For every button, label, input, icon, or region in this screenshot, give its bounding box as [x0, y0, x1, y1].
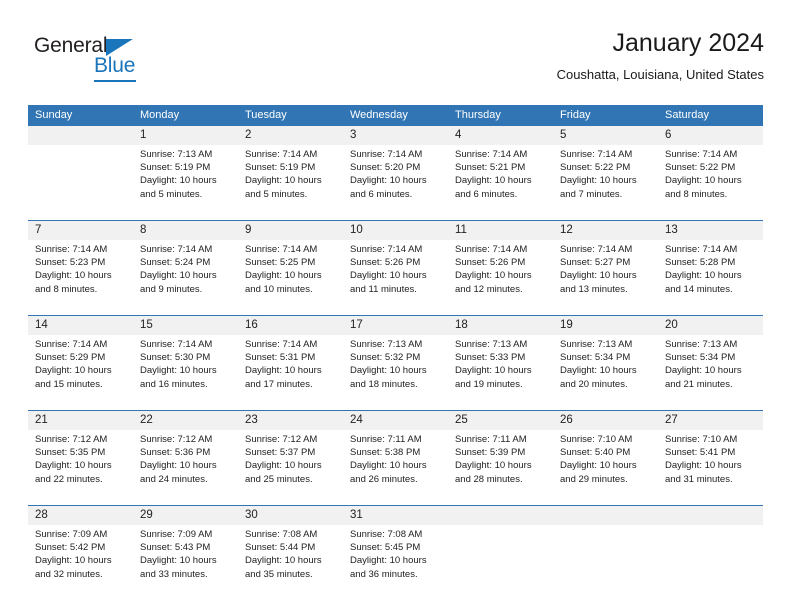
- sunrise-text: Sunrise: 7:12 AM: [245, 433, 338, 446]
- daylight-text-line1: Daylight: 10 hours: [560, 174, 653, 187]
- day-cell[interactable]: [658, 525, 763, 600]
- daylight-text-line1: Daylight: 10 hours: [560, 364, 653, 377]
- day-number[interactable]: 20: [658, 316, 763, 336]
- logo-text-blue: Blue: [94, 54, 135, 78]
- sunrise-text: Sunrise: 7:12 AM: [35, 433, 128, 446]
- sunrise-text: Sunrise: 7:14 AM: [350, 148, 443, 161]
- daylight-text-line2: and 7 minutes.: [560, 188, 653, 201]
- week-info-row: Sunrise: 7:14 AM Sunset: 5:29 PM Dayligh…: [28, 335, 763, 411]
- sunrise-text: Sunrise: 7:10 AM: [665, 433, 758, 446]
- daylight-text-line1: Daylight: 10 hours: [455, 459, 548, 472]
- sunset-text: Sunset: 5:39 PM: [455, 446, 548, 459]
- sunrise-text: Sunrise: 7:14 AM: [455, 148, 548, 161]
- day-number[interactable]: 29: [133, 506, 238, 526]
- day-cell[interactable]: Sunrise: 7:14 AM Sunset: 5:20 PM Dayligh…: [343, 145, 448, 221]
- daylight-text-line2: and 33 minutes.: [140, 568, 233, 581]
- day-cell[interactable]: Sunrise: 7:14 AM Sunset: 5:25 PM Dayligh…: [238, 240, 343, 316]
- day-number[interactable]: 21: [28, 411, 133, 431]
- daylight-text-line2: and 24 minutes.: [140, 473, 233, 486]
- daylight-text-line1: Daylight: 10 hours: [35, 459, 128, 472]
- day-number[interactable]: 27: [658, 411, 763, 431]
- daylight-text-line1: Daylight: 10 hours: [560, 269, 653, 282]
- daylight-text-line1: Daylight: 10 hours: [35, 364, 128, 377]
- sunset-text: Sunset: 5:40 PM: [560, 446, 653, 459]
- day-number[interactable]: 13: [658, 221, 763, 241]
- daylight-text-line2: and 35 minutes.: [245, 568, 338, 581]
- week-daynum-row: 7 8 9 10 11 12 13: [28, 221, 763, 241]
- daylight-text-line1: Daylight: 10 hours: [665, 174, 758, 187]
- day-cell[interactable]: Sunrise: 7:09 AM Sunset: 5:42 PM Dayligh…: [28, 525, 133, 600]
- weekday-header-wednesday: Wednesday: [343, 105, 448, 126]
- daylight-text-line2: and 8 minutes.: [665, 188, 758, 201]
- day-number[interactable]: 1: [133, 126, 238, 145]
- sunrise-text: Sunrise: 7:14 AM: [455, 243, 548, 256]
- daylight-text-line1: Daylight: 10 hours: [560, 459, 653, 472]
- daylight-text-line2: and 16 minutes.: [140, 378, 233, 391]
- day-number[interactable]: [553, 506, 658, 526]
- sunrise-text: Sunrise: 7:10 AM: [560, 433, 653, 446]
- sunset-text: Sunset: 5:24 PM: [140, 256, 233, 269]
- day-number[interactable]: 9: [238, 221, 343, 241]
- daylight-text-line1: Daylight: 10 hours: [140, 554, 233, 567]
- daylight-text-line2: and 6 minutes.: [455, 188, 548, 201]
- day-number[interactable]: 23: [238, 411, 343, 431]
- daylight-text-line2: and 20 minutes.: [560, 378, 653, 391]
- daylight-text-line1: Daylight: 10 hours: [350, 554, 443, 567]
- daylight-text-line1: Daylight: 10 hours: [455, 269, 548, 282]
- daylight-text-line2: and 22 minutes.: [35, 473, 128, 486]
- day-cell[interactable]: Sunrise: 7:12 AM Sunset: 5:37 PM Dayligh…: [238, 430, 343, 506]
- sunset-text: Sunset: 5:30 PM: [140, 351, 233, 364]
- day-number[interactable]: 11: [448, 221, 553, 241]
- daylight-text-line1: Daylight: 10 hours: [245, 269, 338, 282]
- day-number[interactable]: 14: [28, 316, 133, 336]
- day-number[interactable]: 8: [133, 221, 238, 241]
- week-info-row: Sunrise: 7:09 AM Sunset: 5:42 PM Dayligh…: [28, 525, 763, 600]
- sunrise-text: Sunrise: 7:11 AM: [350, 433, 443, 446]
- sunset-text: Sunset: 5:19 PM: [140, 161, 233, 174]
- weekday-header-friday: Friday: [553, 105, 658, 126]
- day-cell[interactable]: Sunrise: 7:13 AM Sunset: 5:19 PM Dayligh…: [133, 145, 238, 221]
- day-cell[interactable]: [448, 525, 553, 600]
- day-cell[interactable]: Sunrise: 7:13 AM Sunset: 5:33 PM Dayligh…: [448, 335, 553, 411]
- sunset-text: Sunset: 5:23 PM: [35, 256, 128, 269]
- day-cell[interactable]: Sunrise: 7:14 AM Sunset: 5:26 PM Dayligh…: [448, 240, 553, 316]
- sunrise-text: Sunrise: 7:13 AM: [560, 338, 653, 351]
- day-cell[interactable]: Sunrise: 7:11 AM Sunset: 5:38 PM Dayligh…: [343, 430, 448, 506]
- day-cell[interactable]: Sunrise: 7:14 AM Sunset: 5:31 PM Dayligh…: [238, 335, 343, 411]
- day-cell[interactable]: Sunrise: 7:13 AM Sunset: 5:34 PM Dayligh…: [658, 335, 763, 411]
- day-cell[interactable]: Sunrise: 7:13 AM Sunset: 5:32 PM Dayligh…: [343, 335, 448, 411]
- sunrise-text: Sunrise: 7:09 AM: [140, 528, 233, 541]
- week-daynum-row: 1 2 3 4 5 6: [28, 126, 763, 145]
- sunset-text: Sunset: 5:27 PM: [560, 256, 653, 269]
- daylight-text-line1: Daylight: 10 hours: [245, 174, 338, 187]
- day-number[interactable]: 15: [133, 316, 238, 336]
- general-blue-logo: General Blue: [34, 34, 164, 86]
- sunrise-text: Sunrise: 7:14 AM: [665, 243, 758, 256]
- day-cell[interactable]: Sunrise: 7:10 AM Sunset: 5:40 PM Dayligh…: [553, 430, 658, 506]
- sunrise-text: Sunrise: 7:14 AM: [560, 148, 653, 161]
- daylight-text-line1: Daylight: 10 hours: [245, 554, 338, 567]
- day-cell[interactable]: Sunrise: 7:11 AM Sunset: 5:39 PM Dayligh…: [448, 430, 553, 506]
- sunset-text: Sunset: 5:26 PM: [455, 256, 548, 269]
- day-number[interactable]: 6: [658, 126, 763, 145]
- sunset-text: Sunset: 5:41 PM: [665, 446, 758, 459]
- sunset-text: Sunset: 5:34 PM: [665, 351, 758, 364]
- daylight-text-line2: and 8 minutes.: [35, 283, 128, 296]
- page-title: January 2024: [557, 28, 764, 58]
- day-cell[interactable]: [28, 145, 133, 221]
- sunset-text: Sunset: 5:35 PM: [35, 446, 128, 459]
- calendar-table: Sunday Monday Tuesday Wednesday Thursday…: [28, 105, 763, 600]
- day-cell[interactable]: Sunrise: 7:14 AM Sunset: 5:29 PM Dayligh…: [28, 335, 133, 411]
- day-number[interactable]: 17: [343, 316, 448, 336]
- daylight-text-line2: and 13 minutes.: [560, 283, 653, 296]
- day-number[interactable]: 19: [553, 316, 658, 336]
- daylight-text-line1: Daylight: 10 hours: [140, 269, 233, 282]
- sunset-text: Sunset: 5:22 PM: [665, 161, 758, 174]
- sunrise-text: Sunrise: 7:13 AM: [455, 338, 548, 351]
- sunset-text: Sunset: 5:34 PM: [560, 351, 653, 364]
- day-number[interactable]: 10: [343, 221, 448, 241]
- sunset-text: Sunset: 5:33 PM: [455, 351, 548, 364]
- daylight-text-line2: and 10 minutes.: [245, 283, 338, 296]
- day-number[interactable]: 24: [343, 411, 448, 431]
- day-number[interactable]: 12: [553, 221, 658, 241]
- title-block: January 2024 Coushatta, Louisiana, Unite…: [557, 28, 764, 82]
- sunrise-text: Sunrise: 7:14 AM: [245, 148, 338, 161]
- daylight-text-line1: Daylight: 10 hours: [245, 364, 338, 377]
- logo-underline: [94, 80, 136, 82]
- day-number[interactable]: 28: [28, 506, 133, 526]
- daylight-text-line1: Daylight: 10 hours: [245, 459, 338, 472]
- sunset-text: Sunset: 5:31 PM: [245, 351, 338, 364]
- daylight-text-line2: and 9 minutes.: [140, 283, 233, 296]
- calendar-body: 1 2 3 4 5 6 Sunrise: 7:13 AM Sunset: 5:1…: [28, 126, 763, 600]
- daylight-text-line2: and 28 minutes.: [455, 473, 548, 486]
- sunset-text: Sunset: 5:37 PM: [245, 446, 338, 459]
- daylight-text-line2: and 15 minutes.: [35, 378, 128, 391]
- day-cell[interactable]: Sunrise: 7:14 AM Sunset: 5:24 PM Dayligh…: [133, 240, 238, 316]
- sunrise-text: Sunrise: 7:08 AM: [245, 528, 338, 541]
- day-cell[interactable]: Sunrise: 7:14 AM Sunset: 5:23 PM Dayligh…: [28, 240, 133, 316]
- day-number[interactable]: [448, 506, 553, 526]
- daylight-text-line1: Daylight: 10 hours: [140, 459, 233, 472]
- sunrise-text: Sunrise: 7:14 AM: [245, 243, 338, 256]
- daylight-text-line2: and 29 minutes.: [560, 473, 653, 486]
- daylight-text-line1: Daylight: 10 hours: [455, 174, 548, 187]
- sunset-text: Sunset: 5:43 PM: [140, 541, 233, 554]
- day-cell[interactable]: Sunrise: 7:13 AM Sunset: 5:34 PM Dayligh…: [553, 335, 658, 411]
- daylight-text-line2: and 6 minutes.: [350, 188, 443, 201]
- daylight-text-line1: Daylight: 10 hours: [350, 269, 443, 282]
- sunrise-text: Sunrise: 7:08 AM: [350, 528, 443, 541]
- day-number[interactable]: 26: [553, 411, 658, 431]
- week-info-row: Sunrise: 7:12 AM Sunset: 5:35 PM Dayligh…: [28, 430, 763, 506]
- day-cell[interactable]: Sunrise: 7:08 AM Sunset: 5:45 PM Dayligh…: [343, 525, 448, 600]
- daylight-text-line1: Daylight: 10 hours: [665, 459, 758, 472]
- daylight-text-line2: and 32 minutes.: [35, 568, 128, 581]
- daylight-text-line1: Daylight: 10 hours: [350, 364, 443, 377]
- day-number[interactable]: 30: [238, 506, 343, 526]
- day-number[interactable]: 25: [448, 411, 553, 431]
- day-number[interactable]: 5: [553, 126, 658, 145]
- daylight-text-line2: and 17 minutes.: [245, 378, 338, 391]
- daylight-text-line1: Daylight: 10 hours: [455, 364, 548, 377]
- sunset-text: Sunset: 5:21 PM: [455, 161, 548, 174]
- daylight-text-line1: Daylight: 10 hours: [35, 269, 128, 282]
- daylight-text-line2: and 19 minutes.: [455, 378, 548, 391]
- daylight-text-line2: and 26 minutes.: [350, 473, 443, 486]
- weekday-header-thursday: Thursday: [448, 105, 553, 126]
- weekday-header-saturday: Saturday: [658, 105, 763, 126]
- sunrise-text: Sunrise: 7:12 AM: [140, 433, 233, 446]
- day-number[interactable]: 16: [238, 316, 343, 336]
- day-cell[interactable]: Sunrise: 7:09 AM Sunset: 5:43 PM Dayligh…: [133, 525, 238, 600]
- day-cell[interactable]: [553, 525, 658, 600]
- day-number[interactable]: 4: [448, 126, 553, 145]
- daylight-text-line1: Daylight: 10 hours: [350, 459, 443, 472]
- daylight-text-line1: Daylight: 10 hours: [665, 269, 758, 282]
- week-info-row: Sunrise: 7:13 AM Sunset: 5:19 PM Dayligh…: [28, 145, 763, 221]
- week-daynum-row: 28 29 30 31: [28, 506, 763, 526]
- sunrise-text: Sunrise: 7:13 AM: [350, 338, 443, 351]
- day-number[interactable]: [28, 126, 133, 145]
- sunset-text: Sunset: 5:19 PM: [245, 161, 338, 174]
- daylight-text-line1: Daylight: 10 hours: [140, 174, 233, 187]
- day-cell[interactable]: Sunrise: 7:14 AM Sunset: 5:28 PM Dayligh…: [658, 240, 763, 316]
- sunrise-text: Sunrise: 7:11 AM: [455, 433, 548, 446]
- sunrise-text: Sunrise: 7:14 AM: [350, 243, 443, 256]
- day-cell[interactable]: Sunrise: 7:14 AM Sunset: 5:22 PM Dayligh…: [658, 145, 763, 221]
- weekday-header-tuesday: Tuesday: [238, 105, 343, 126]
- sunrise-text: Sunrise: 7:09 AM: [35, 528, 128, 541]
- day-cell[interactable]: Sunrise: 7:08 AM Sunset: 5:44 PM Dayligh…: [238, 525, 343, 600]
- daylight-text-line1: Daylight: 10 hours: [665, 364, 758, 377]
- day-number[interactable]: 2: [238, 126, 343, 145]
- day-number[interactable]: 7: [28, 221, 133, 241]
- daylight-text-line2: and 21 minutes.: [665, 378, 758, 391]
- sunrise-text: Sunrise: 7:14 AM: [35, 243, 128, 256]
- day-number[interactable]: 22: [133, 411, 238, 431]
- daylight-text-line2: and 14 minutes.: [665, 283, 758, 296]
- sunset-text: Sunset: 5:29 PM: [35, 351, 128, 364]
- weekday-header-sunday: Sunday: [28, 105, 133, 126]
- daylight-text-line1: Daylight: 10 hours: [140, 364, 233, 377]
- sunset-text: Sunset: 5:38 PM: [350, 446, 443, 459]
- sunrise-text: Sunrise: 7:13 AM: [665, 338, 758, 351]
- daylight-text-line2: and 5 minutes.: [245, 188, 338, 201]
- sunset-text: Sunset: 5:44 PM: [245, 541, 338, 554]
- page-header: General Blue January 2024 Coushatta, Lou…: [28, 28, 764, 98]
- day-number[interactable]: 3: [343, 126, 448, 145]
- day-cell[interactable]: Sunrise: 7:14 AM Sunset: 5:22 PM Dayligh…: [553, 145, 658, 221]
- sunrise-text: Sunrise: 7:14 AM: [140, 338, 233, 351]
- sunrise-text: Sunrise: 7:14 AM: [140, 243, 233, 256]
- sunrise-text: Sunrise: 7:14 AM: [35, 338, 128, 351]
- sunset-text: Sunset: 5:42 PM: [35, 541, 128, 554]
- day-number[interactable]: 18: [448, 316, 553, 336]
- day-cell[interactable]: Sunrise: 7:10 AM Sunset: 5:41 PM Dayligh…: [658, 430, 763, 506]
- sunset-text: Sunset: 5:28 PM: [665, 256, 758, 269]
- sunrise-text: Sunrise: 7:14 AM: [665, 148, 758, 161]
- daylight-text-line1: Daylight: 10 hours: [35, 554, 128, 567]
- daylight-text-line2: and 25 minutes.: [245, 473, 338, 486]
- day-cell[interactable]: Sunrise: 7:14 AM Sunset: 5:27 PM Dayligh…: [553, 240, 658, 316]
- sunset-text: Sunset: 5:26 PM: [350, 256, 443, 269]
- daylight-text-line2: and 31 minutes.: [665, 473, 758, 486]
- day-number[interactable]: [658, 506, 763, 526]
- day-number[interactable]: 31: [343, 506, 448, 526]
- page-subtitle: Coushatta, Louisiana, United States: [557, 67, 764, 82]
- daylight-text-line2: and 5 minutes.: [140, 188, 233, 201]
- day-cell[interactable]: Sunrise: 7:12 AM Sunset: 5:36 PM Dayligh…: [133, 430, 238, 506]
- sunset-text: Sunset: 5:32 PM: [350, 351, 443, 364]
- daylight-text-line2: and 11 minutes.: [350, 283, 443, 296]
- day-cell[interactable]: Sunrise: 7:14 AM Sunset: 5:26 PM Dayligh…: [343, 240, 448, 316]
- sunset-text: Sunset: 5:20 PM: [350, 161, 443, 174]
- sunrise-text: Sunrise: 7:13 AM: [140, 148, 233, 161]
- day-cell[interactable]: Sunrise: 7:14 AM Sunset: 5:19 PM Dayligh…: [238, 145, 343, 221]
- day-cell[interactable]: Sunrise: 7:12 AM Sunset: 5:35 PM Dayligh…: [28, 430, 133, 506]
- sunrise-text: Sunrise: 7:14 AM: [245, 338, 338, 351]
- sunset-text: Sunset: 5:22 PM: [560, 161, 653, 174]
- sunset-text: Sunset: 5:25 PM: [245, 256, 338, 269]
- daylight-text-line1: Daylight: 10 hours: [350, 174, 443, 187]
- sunrise-text: Sunrise: 7:14 AM: [560, 243, 653, 256]
- daylight-text-line2: and 36 minutes.: [350, 568, 443, 581]
- daylight-text-line2: and 12 minutes.: [455, 283, 548, 296]
- day-cell[interactable]: Sunrise: 7:14 AM Sunset: 5:30 PM Dayligh…: [133, 335, 238, 411]
- week-daynum-row: 21 22 23 24 25 26 27: [28, 411, 763, 431]
- calendar-header-row: Sunday Monday Tuesday Wednesday Thursday…: [28, 105, 763, 126]
- calendar-page: General Blue January 2024 Coushatta, Lou…: [0, 0, 792, 612]
- sunset-text: Sunset: 5:45 PM: [350, 541, 443, 554]
- week-daynum-row: 14 15 16 17 18 19 20: [28, 316, 763, 336]
- week-info-row: Sunrise: 7:14 AM Sunset: 5:23 PM Dayligh…: [28, 240, 763, 316]
- daylight-text-line2: and 18 minutes.: [350, 378, 443, 391]
- sunset-text: Sunset: 5:36 PM: [140, 446, 233, 459]
- weekday-header-monday: Monday: [133, 105, 238, 126]
- day-cell[interactable]: Sunrise: 7:14 AM Sunset: 5:21 PM Dayligh…: [448, 145, 553, 221]
